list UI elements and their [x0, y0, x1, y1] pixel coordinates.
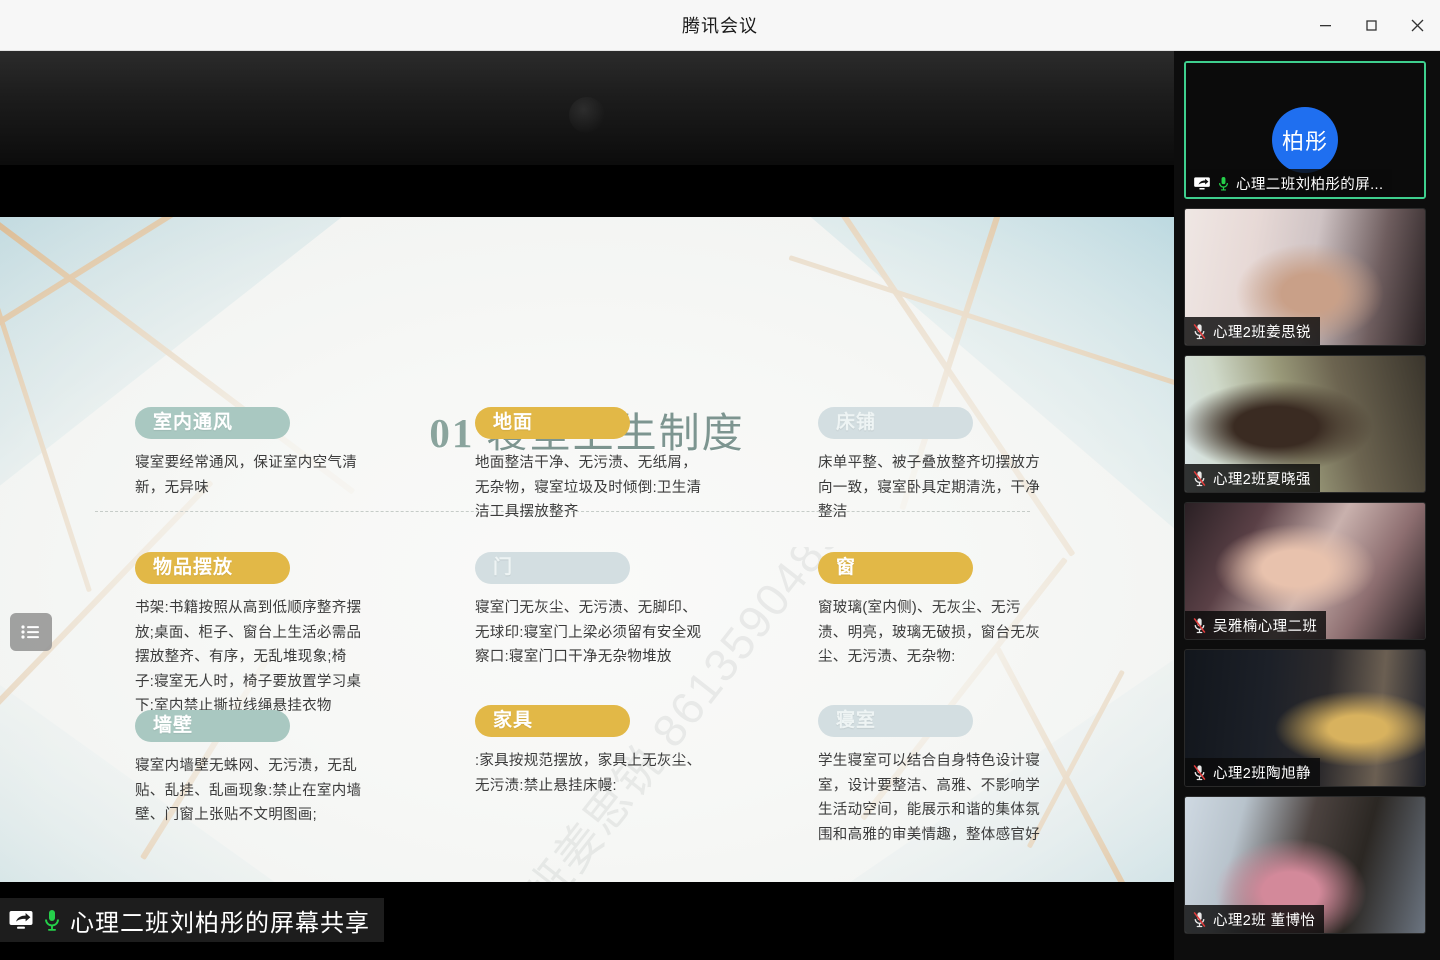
card-pill-label: 窗	[818, 552, 973, 584]
card-pill-label: 室内通风	[135, 407, 290, 439]
slide-card: 寝室 学生寝室可以结合自身特色设计寝室，设计要整洁、高雅、不影响学生活动空间，能…	[818, 705, 1048, 847]
card-pill-label: 墙壁	[135, 710, 290, 742]
meeting-window-body: 01 寝室卫生制度 心理2班姜思锐 8613590489 室内通风 寝室要经常通…	[0, 51, 1440, 960]
window-controls	[1302, 0, 1440, 51]
card-pill-label: 地面	[475, 407, 630, 439]
minimize-icon	[1317, 17, 1334, 34]
screen-share-icon	[8, 909, 34, 931]
participant-tile[interactable]: 心理2班姜思锐	[1184, 208, 1426, 346]
card-body-text: 寝室内墙壁无蛛网、无污渍，无乱贴、乱挂、乱画现象:禁止在室内墙壁、门窗上张贴不文…	[135, 754, 365, 828]
slide-card: 墙壁 寝室内墙壁无蛛网、无污渍，无乱贴、乱挂、乱画现象:禁止在室内墙壁、门窗上张…	[135, 710, 365, 828]
slide-card: 门 寝室门无灰尘、无污渍、无脚印、无球印:寝室门上梁必须留有安全观察口:寝室门口…	[475, 552, 705, 670]
card-body-text: 窗玻璃(室内侧)、无灰尘、无污渍、明亮，玻璃无破损，窗台无灰尘、无污渍、无杂物:	[818, 596, 1048, 670]
mic-off-icon	[1192, 911, 1207, 928]
card-body-text: 书架:书籍按照从高到低顺序整齐摆放;桌面、柜子、窗台上生活必需品摆放整齐、有序，…	[135, 596, 365, 719]
participant-tile[interactable]: 吴雅楠心理二班	[1184, 502, 1426, 640]
card-pill-label: 家具	[475, 705, 630, 737]
slide-card: 物品摆放 书架:书籍按照从高到低顺序整齐摆放;桌面、柜子、窗台上生活必需品摆放整…	[135, 552, 365, 719]
participant-namebar: 心理2班姜思锐	[1185, 317, 1320, 345]
list-menu-icon	[20, 624, 42, 640]
presenter-bottom-bar: 心理二班刘柏彤的屏幕共享	[0, 882, 1174, 960]
shared-screen-stage[interactable]: 01 寝室卫生制度 心理2班姜思锐 8613590489 室内通风 寝室要经常通…	[0, 51, 1174, 960]
card-body-text: :家具按规范摆放，家具上无灰尘、无污渍:禁止悬挂床幔:	[475, 749, 705, 798]
card-body-text: 寝室要经常通风，保证室内空气清新，无异味	[135, 451, 365, 500]
participant-namebar: 吴雅楠心理二班	[1185, 611, 1326, 639]
close-icon	[1408, 16, 1427, 35]
camera-notch-decoration	[569, 97, 605, 133]
screen-share-icon	[1193, 176, 1211, 191]
mic-off-icon	[1192, 617, 1207, 634]
slide-card-grid: 室内通风 寝室要经常通风，保证室内空气清新，无异味 地面 地面整洁干净、无污渍、…	[0, 217, 1174, 882]
slide-card: 床铺 床单平整、被子叠放整齐切摆放方向一致，寝室卧具定期清洗，干净整洁	[818, 407, 1048, 525]
slide-card: 家具 :家具按规范摆放，家具上无灰尘、无污渍:禁止悬挂床幔:	[475, 705, 705, 798]
window-title-bar: 腾讯会议	[0, 0, 1440, 51]
participant-tile[interactable]: 心理2班夏晓强	[1184, 355, 1426, 493]
card-pill-label: 物品摆放	[135, 552, 290, 584]
card-body-text: 地面整洁干净、无污渍、无纸屑，无杂物，寝室垃圾及时倾倒:卫生清洁工具摆放整齐	[475, 451, 705, 525]
mic-off-icon	[1192, 323, 1207, 340]
card-pill-label: 床铺	[818, 407, 973, 439]
participant-strip[interactable]: 柏彤 心理二班	[1174, 51, 1440, 960]
participant-name: 吴雅楠心理二班	[1213, 615, 1317, 636]
window-title: 腾讯会议	[682, 12, 758, 38]
shared-screen-top-bezel	[0, 51, 1174, 168]
participant-name: 心理二班刘柏彤的屏...	[1236, 173, 1383, 194]
slide-card: 窗 窗玻璃(室内侧)、无灰尘、无污渍、明亮，玻璃无破损，窗台无灰尘、无污渍、无杂…	[818, 552, 1048, 670]
mic-off-icon	[1192, 764, 1207, 781]
presenter-chip: 心理二班刘柏彤的屏幕共享	[0, 898, 384, 942]
mic-on-icon	[42, 908, 62, 932]
presentation-slide: 01 寝室卫生制度 心理2班姜思锐 8613590489 室内通风 寝室要经常通…	[0, 217, 1174, 882]
participant-namebar: 心理2班夏晓强	[1185, 464, 1320, 492]
participant-namebar: 心理2班陶旭静	[1185, 758, 1320, 786]
participant-name: 心理2班夏晓强	[1213, 468, 1311, 489]
card-body-text: 床单平整、被子叠放整齐切摆放方向一致，寝室卧具定期清洗，干净整洁	[818, 451, 1048, 525]
mic-on-icon	[1217, 175, 1230, 192]
minimize-button[interactable]	[1302, 0, 1348, 51]
participant-tile[interactable]: 柏彤 心理二班	[1184, 61, 1426, 199]
slide-card: 地面 地面整洁干净、无污渍、无纸屑，无杂物，寝室垃圾及时倾倒:卫生清洁工具摆放整…	[475, 407, 705, 525]
participant-name: 心理2班 董博怡	[1213, 909, 1315, 930]
participant-tile[interactable]: 心理2班陶旭静	[1184, 649, 1426, 787]
maximize-icon	[1363, 17, 1380, 34]
slide-card: 室内通风 寝室要经常通风，保证室内空气清新，无异味	[135, 407, 365, 500]
card-body-text: 学生寝室可以结合自身特色设计寝室，设计要整洁、高雅、不影响学生活动空间，能展示和…	[818, 749, 1048, 847]
presenter-share-label: 心理二班刘柏彤的屏幕共享	[70, 903, 370, 938]
participant-tile[interactable]: 心理2班 董博怡	[1184, 796, 1426, 934]
participant-name: 心理2班陶旭静	[1213, 762, 1311, 783]
card-body-text: 寝室门无灰尘、无污渍、无脚印、无球印:寝室门上梁必须留有安全观察口:寝室门口干净…	[475, 596, 705, 670]
card-pill-label: 门	[475, 552, 630, 584]
maximize-button[interactable]	[1348, 0, 1394, 51]
participant-namebar: 心理2班 董博怡	[1185, 905, 1324, 933]
avatar: 柏彤	[1272, 107, 1338, 173]
card-pill-label: 寝室	[818, 705, 973, 737]
participant-name: 心理2班姜思锐	[1213, 321, 1311, 342]
participant-namebar: 心理二班刘柏彤的屏...	[1186, 169, 1392, 197]
mic-off-icon	[1192, 470, 1207, 487]
slide-list-button[interactable]	[10, 613, 52, 651]
close-button[interactable]	[1394, 0, 1440, 51]
